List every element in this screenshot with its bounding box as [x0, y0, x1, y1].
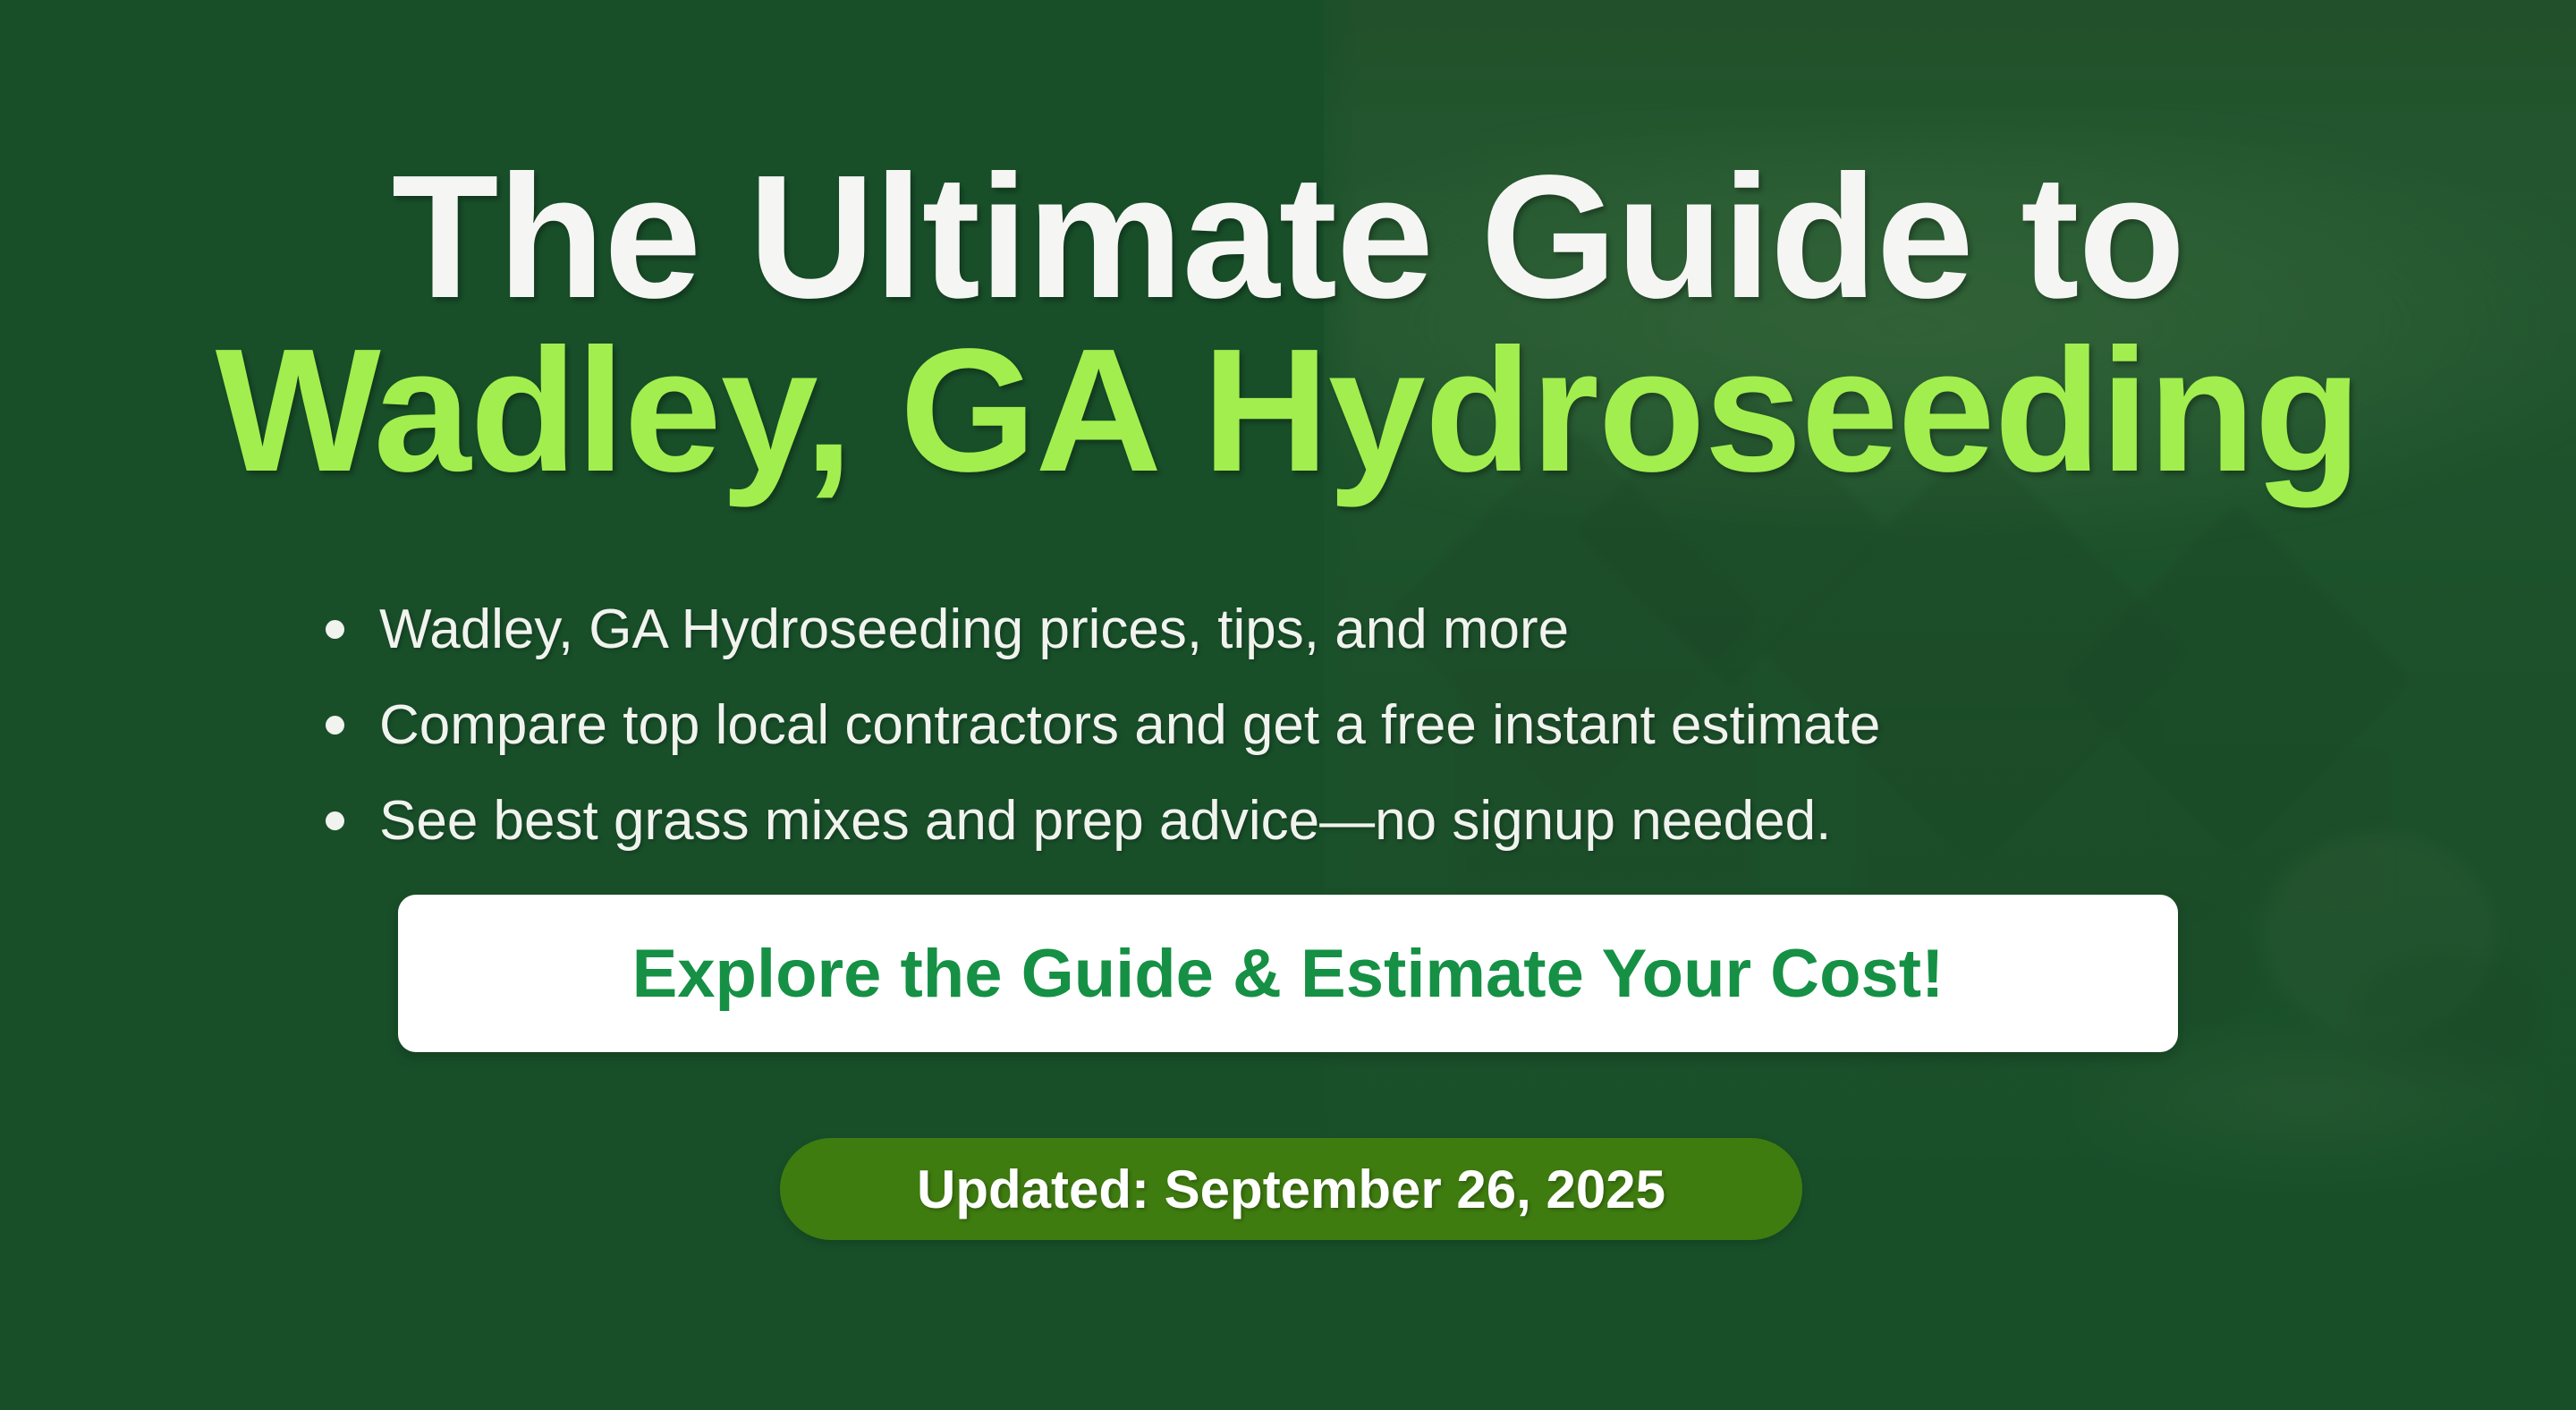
updated-status-badge: Updated: September 26, 2025: [780, 1138, 1802, 1240]
bullet-dot-icon: [326, 716, 344, 735]
hero-banner: The Ultimate Guide to Wadley, GA Hydrose…: [0, 0, 2576, 1410]
list-item: See best grass mixes and prep advice—no …: [315, 773, 1880, 869]
feature-bullet-list: Wadley, GA Hydroseeding prices, tips, an…: [315, 582, 1880, 869]
headline-line-primary: The Ultimate Guide to: [0, 150, 2576, 324]
list-item-label: See best grass mixes and prep advice—no …: [379, 790, 1831, 852]
page-title: The Ultimate Guide to Wadley, GA Hydrose…: [0, 150, 2576, 497]
bullet-dot-icon: [326, 811, 344, 830]
hero-content: The Ultimate Guide to Wadley, GA Hydrose…: [0, 0, 2576, 1410]
list-item-label: Compare top local contractors and get a …: [379, 694, 1880, 756]
bullet-dot-icon: [326, 620, 344, 639]
list-item: Compare top local contractors and get a …: [315, 677, 1880, 773]
list-item: Wadley, GA Hydroseeding prices, tips, an…: [315, 582, 1880, 677]
list-item-label: Wadley, GA Hydroseeding prices, tips, an…: [379, 599, 1569, 660]
explore-guide-button[interactable]: Explore the Guide & Estimate Your Cost!: [398, 895, 2178, 1052]
headline-line-accent: Wadley, GA Hydroseeding: [0, 324, 2576, 497]
